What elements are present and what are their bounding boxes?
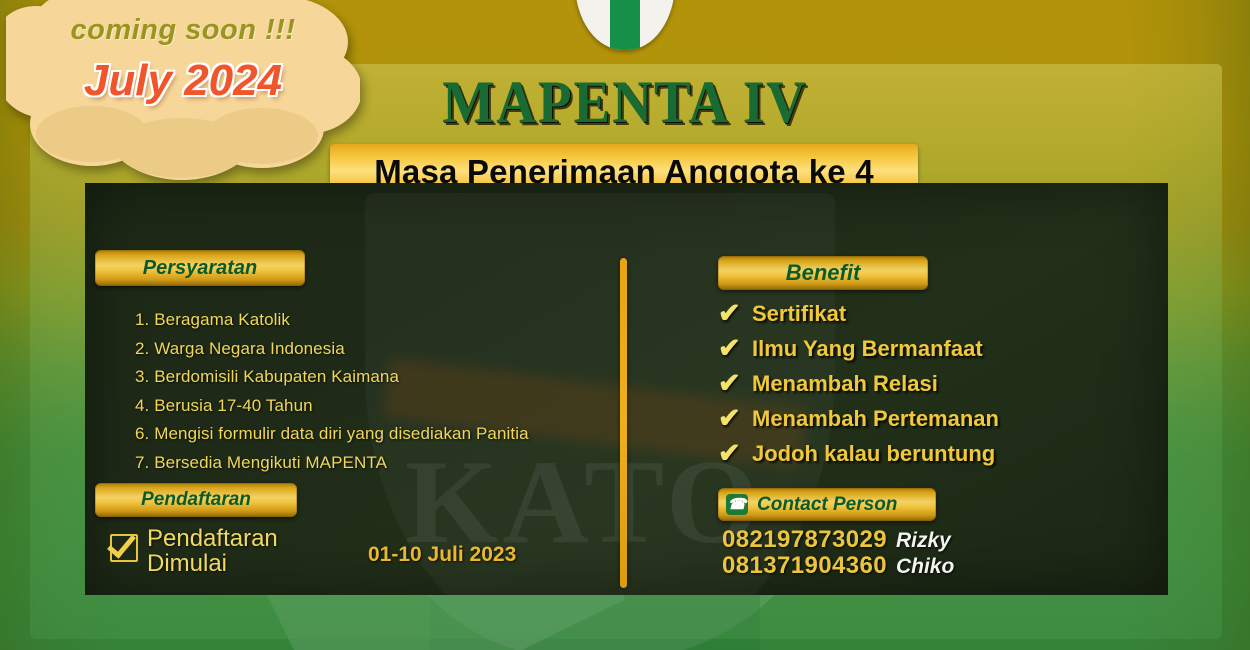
requirements-badge-label: Persyaratan [143,257,258,280]
list-item: ✔ Menambah Pertemanan [718,405,1138,432]
list-item: ✔ Sertifikat [718,300,1138,327]
check-icon: ✔ [718,335,740,362]
coming-soon-text: coming soon !!! [6,14,360,47]
requirements-list: 1. Beragama Katolik 2. Warga Negara Indo… [95,310,605,481]
requirements-badge: Persyaratan [95,250,305,286]
benefit-item-label: Ilmu Yang Bermanfaat [752,336,983,362]
registration-status-line1: Pendaftaran [147,526,278,551]
contact-badge: ☎ Contact Person [718,488,936,521]
contact-list: 082197873029 Rizky 081371904360 Chiko [722,527,954,579]
list-item: ✔ Jodoh kalau beruntung [718,440,1138,467]
check-icon: ✔ [718,370,740,397]
benefit-item-label: Menambah Relasi [752,371,938,397]
check-icon: ✔ [718,440,740,467]
registration-badge-label: Pendaftaran [141,489,251,511]
check-icon: ✔ [718,300,740,327]
list-item: 1. Beragama Katolik [135,310,605,330]
list-item: 081371904360 Chiko [722,553,954,579]
list-item: 3. Berdomisili Kabupaten Kaimana [135,367,605,387]
contact-number[interactable]: 081371904360 [722,553,887,579]
benefit-item-label: Menambah Pertemanan [752,406,999,432]
list-item: 082197873029 Rizky [722,527,954,553]
list-item: 4. Berusia 17-40 Tahun [135,396,605,416]
logo-green-bar [610,0,640,50]
benefit-badge: Benefit [718,256,928,290]
phone-icon: ☎ [726,494,748,515]
announcement-date: July 2024 [6,56,360,106]
contact-name: Chiko [896,556,954,579]
benefit-item-label: Jodoh kalau beruntung [752,441,995,467]
registration-status-label: Pendaftaran Dimulai [147,526,278,577]
poster-canvas: KATOLIK MAPENTA IV Masa Penerimaan Anggo… [0,0,1250,650]
contact-name: Rizky [896,530,951,553]
list-item: ✔ Ilmu Yang Bermanfaat [718,335,1138,362]
shield-logo-icon: KATOLIK [575,0,675,50]
checkbox-checked-icon [110,534,138,562]
list-item: 6. Mengisi formulir data diri yang dised… [135,424,605,444]
contact-number[interactable]: 082197873029 [722,527,887,553]
contact-badge-label: Contact Person [757,494,897,516]
list-item: ✔ Menambah Relasi [718,370,1138,397]
registration-date-range: 01-10 Juli 2023 [368,543,516,567]
registration-badge: Pendaftaran [95,483,297,517]
list-item: 7. Bersedia Mengikuti MAPENTA [135,453,605,473]
announcement-cloud: coming soon !!! July 2024 [6,0,360,182]
benefit-badge-label: Benefit [786,260,861,286]
column-divider [620,258,627,588]
check-icon: ✔ [718,405,740,432]
registration-status-row: Pendaftaran Dimulai 01-10 Juli 2023 [110,528,580,578]
list-item: 2. Warga Negara Indonesia [135,339,605,359]
registration-status-line2: Dimulai [147,551,278,576]
benefit-list: ✔ Sertifikat ✔ Ilmu Yang Bermanfaat ✔ Me… [718,300,1138,475]
benefit-item-label: Sertifikat [752,301,846,327]
